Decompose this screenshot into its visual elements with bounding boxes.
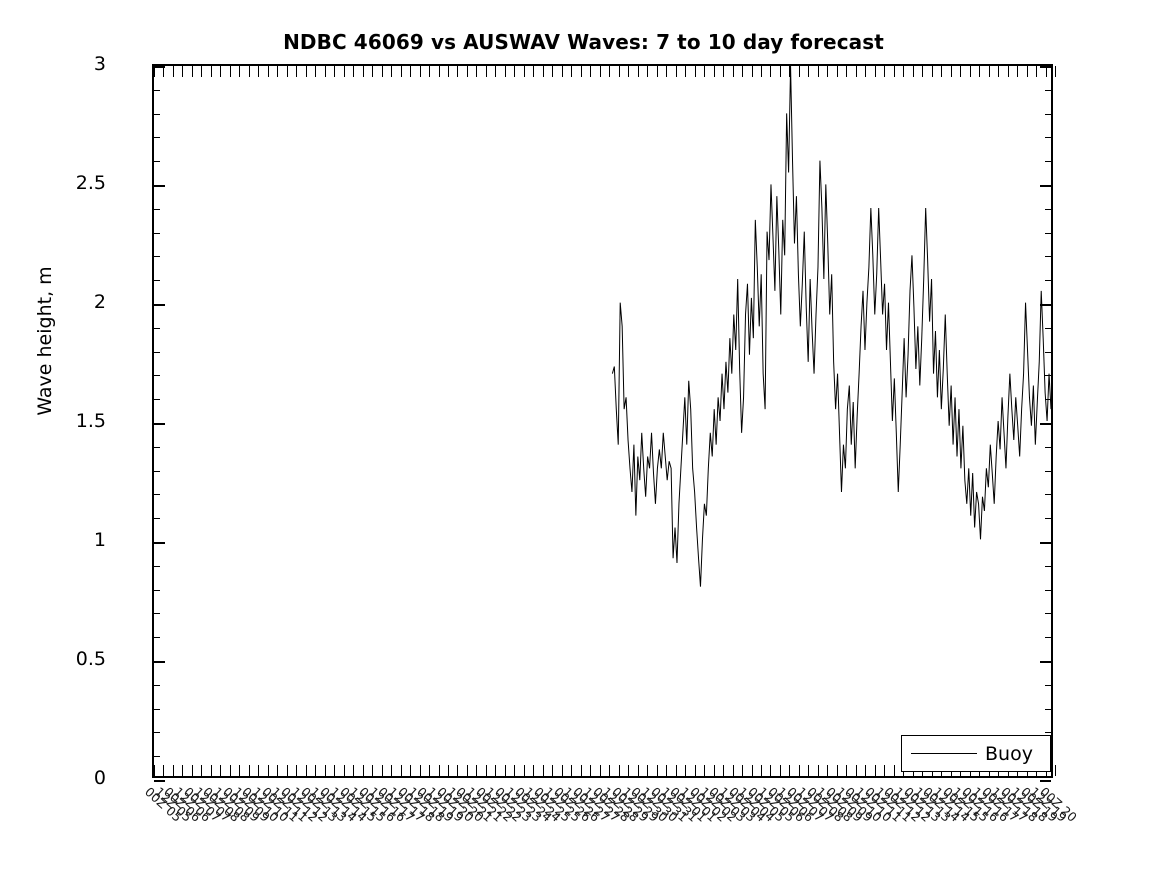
x-axis-tick [192, 765, 193, 776]
x-axis-tick-label: 00Z 09 [823, 784, 866, 825]
x-axis-tick [590, 66, 591, 77]
x-axis-tick [353, 765, 354, 776]
y-axis-minor-tick [154, 637, 160, 638]
x-axis-tick [163, 66, 164, 77]
x-axis-tick [789, 66, 790, 77]
x-axis-tick [524, 66, 525, 77]
x-axis-tick-label: 12Z 10 [249, 784, 292, 825]
y-axis-minor-tick [154, 233, 160, 234]
x-axis-tick [552, 66, 553, 77]
y-axis-minor-tick [1045, 685, 1051, 686]
x-axis-tick [495, 765, 496, 776]
x-axis-tick [173, 765, 174, 776]
x-axis-tick-label: 12Z 13 [910, 784, 953, 825]
x-axis-tick-label-group: 00Z 0512Z 0500Z 0612Z 0600Z 0712Z 0700Z … [152, 778, 1053, 875]
x-axis-tick [486, 66, 487, 77]
y-axis-minor-tick [1045, 280, 1051, 281]
y-axis-minor-tick [154, 280, 160, 281]
y-axis-minor-tick [154, 732, 160, 733]
y-axis-tick-label: 0.5 [16, 648, 106, 670]
x-axis-tick [382, 765, 383, 776]
page-title: NDBC 46069 vs AUSWAV Waves: 7 to 10 day … [0, 30, 1167, 54]
x-axis-tick [334, 66, 335, 77]
x-axis-tick [457, 765, 458, 776]
x-axis-tick [230, 765, 231, 776]
x-axis-tick [704, 66, 705, 77]
x-axis-tick [372, 765, 373, 776]
x-axis-tick [789, 765, 790, 776]
x-axis-tick [325, 765, 326, 776]
x-axis-tick-label: 12Z 31 [658, 784, 701, 825]
y-axis-tick-label: 3 [16, 53, 106, 75]
x-axis-tick [761, 66, 762, 77]
x-axis-tick-label: 12Z 06 [171, 784, 214, 825]
x-axis-tick [201, 765, 202, 776]
x-axis-tick [514, 66, 515, 77]
x-axis-tick [315, 66, 316, 77]
x-axis-tick-label: 00Z 01 [667, 784, 710, 825]
x-axis-tick [913, 66, 914, 77]
x-axis-tick [495, 66, 496, 77]
x-axis-tick [723, 66, 724, 77]
x-axis-tick-label: 00Z 19 [414, 784, 457, 825]
y-axis-minor-tick [154, 209, 160, 210]
x-axis-tick [429, 765, 430, 776]
y-axis-tick-label: 0 [16, 767, 106, 789]
x-axis-tick [856, 66, 857, 77]
x-axis-tick-label: 00Z 12 [881, 784, 924, 825]
x-axis-tick [382, 66, 383, 77]
y-axis-tick [154, 661, 165, 663]
x-axis-tick [401, 66, 402, 77]
x-axis-tick-label: 00Z 06 [161, 784, 204, 825]
y-axis-minor-tick [1045, 256, 1051, 257]
x-axis-tick-label: 12Z 14 [930, 784, 973, 825]
x-axis-tick [325, 66, 326, 77]
y-axis-minor-tick [154, 161, 160, 162]
x-axis-tick-label: 12Z 23 [502, 784, 545, 825]
x-axis-tick [761, 765, 762, 776]
x-axis-tick [154, 66, 155, 77]
y-axis-minor-tick [154, 256, 160, 257]
x-axis-tick-label: 00Z 20 [1037, 784, 1080, 825]
x-axis-tick [799, 765, 800, 776]
y-axis-minor-tick [1045, 637, 1051, 638]
y-axis-minor-tick [154, 542, 160, 543]
x-axis-tick-label: 00Z 11 [259, 784, 302, 825]
x-axis-tick-label: 00Z 13 [298, 784, 341, 825]
x-axis-tick-label: 12Z 07 [191, 784, 234, 825]
x-axis-tick-label: 12Z 16 [969, 784, 1012, 825]
y-axis-minor-tick [1045, 447, 1051, 448]
y-axis-minor-tick [1045, 114, 1051, 115]
x-axis-tick [647, 765, 648, 776]
y-axis-minor-tick [154, 375, 160, 376]
x-axis-tick-label: 00Z 25 [531, 784, 574, 825]
y-axis-tick [154, 780, 165, 782]
x-axis-tick-label: 00Z 13 [901, 784, 944, 825]
x-axis-tick [808, 66, 809, 77]
x-axis-tick [543, 765, 544, 776]
x-axis-tick-label: 00Z 03 [706, 784, 749, 825]
x-axis-tick-label: 12Z 28 [599, 784, 642, 825]
y-axis-minor-tick [1045, 566, 1051, 567]
x-axis-tick [391, 66, 392, 77]
x-axis-tick [638, 66, 639, 77]
x-axis-tick-label: 00Z 18 [395, 784, 438, 825]
x-axis-tick [562, 66, 563, 77]
x-axis-tick [420, 66, 421, 77]
x-axis-tick [657, 765, 658, 776]
x-axis-tick-label: 00Z 30 [628, 784, 671, 825]
y-axis-minor-tick [154, 352, 160, 353]
x-axis-tick [818, 66, 819, 77]
x-axis-tick-label: 00Z 19 [1017, 784, 1060, 825]
x-axis-tick [609, 765, 610, 776]
x-axis-tick [505, 66, 506, 77]
x-axis-tick [960, 66, 961, 77]
x-axis-tick-label: 00Z 26 [551, 784, 594, 825]
x-axis-tick [448, 66, 449, 77]
x-axis-tick [609, 66, 610, 77]
x-axis-tick [600, 66, 601, 77]
x-axis-tick [846, 765, 847, 776]
x-axis-tick [182, 66, 183, 77]
y-axis-tick [1040, 661, 1051, 663]
x-axis-tick [628, 66, 629, 77]
x-axis-tick-label: 12Z 27 [580, 784, 623, 825]
x-axis-tick [344, 66, 345, 77]
x-axis-tick [239, 765, 240, 776]
x-axis-tick-label: 12Z 05 [755, 784, 798, 825]
x-axis-tick [1008, 66, 1009, 77]
x-axis-tick-label: 00Z 06 [765, 784, 808, 825]
x-axis-tick [420, 765, 421, 776]
x-axis-tick-label: 00Z 29 [609, 784, 652, 825]
x-axis-tick [277, 66, 278, 77]
x-axis-tick [239, 66, 240, 77]
x-axis-tick-label: 12Z 11 [268, 784, 311, 825]
x-axis-tick-label: 12Z 24 [521, 784, 564, 825]
x-axis-tick-label: 00Z 12 [278, 784, 321, 825]
x-axis-tick-label: 00Z 15 [940, 784, 983, 825]
x-axis-tick-label: 12Z 08 [813, 784, 856, 825]
x-axis-tick [856, 765, 857, 776]
y-axis-minor-tick [154, 447, 160, 448]
x-axis-tick-label: 12Z 30 [638, 784, 681, 825]
y-axis-minor-tick [154, 590, 160, 591]
x-axis-tick [799, 66, 800, 77]
x-axis-tick [1055, 765, 1056, 776]
x-axis-tick [533, 765, 534, 776]
x-axis-tick-label: 00Z 21 [453, 784, 496, 825]
x-axis-tick-label: 00Z 17 [375, 784, 418, 825]
y-axis-minor-tick [154, 328, 160, 329]
x-axis-tick [619, 66, 620, 77]
y-axis-minor-tick [1045, 590, 1051, 591]
x-axis-tick [353, 66, 354, 77]
y-axis-minor-tick [154, 137, 160, 138]
x-axis-tick [780, 765, 781, 776]
x-axis-tick-label: 00Z 18 [998, 784, 1041, 825]
x-axis-tick-label: 12Z 18 [1008, 784, 1051, 825]
x-axis-tick-label: 12Z 19 [1027, 784, 1070, 825]
x-axis-tick-label: 12Z 12 [288, 784, 331, 825]
x-axis-tick [439, 765, 440, 776]
x-axis-tick [505, 765, 506, 776]
y-axis-minor-tick [1045, 399, 1051, 400]
x-axis-tick [884, 66, 885, 77]
x-axis-tick [334, 765, 335, 776]
x-axis-tick [714, 66, 715, 77]
x-axis-tick [467, 66, 468, 77]
y-axis-minor-tick [1045, 233, 1051, 234]
x-axis-tick [1046, 66, 1047, 77]
x-axis-tick [514, 765, 515, 776]
x-axis-tick-label: 12Z 13 [307, 784, 350, 825]
x-axis-tick [230, 66, 231, 77]
x-axis-tick [410, 66, 411, 77]
x-axis-tick-label: 00Z 20 [434, 784, 477, 825]
x-axis-tick [372, 66, 373, 77]
x-axis-tick [315, 765, 316, 776]
x-axis-tick-label: 00Z 02 [687, 784, 730, 825]
x-axis-tick [752, 66, 753, 77]
y-axis-minor-tick [154, 756, 160, 757]
x-axis-tick [894, 765, 895, 776]
x-axis-tick [989, 66, 990, 77]
x-axis-tick [581, 765, 582, 776]
x-axis-tick [154, 765, 155, 776]
y-axis-tick [154, 185, 165, 187]
x-axis-tick [884, 765, 885, 776]
x-axis-tick [742, 765, 743, 776]
x-axis-tick-label: 00Z 28 [589, 784, 632, 825]
x-axis-tick-label: 00Z 07 [181, 784, 224, 825]
x-axis-tick [467, 765, 468, 776]
x-axis-tick-label: 00Z 05 [745, 784, 788, 825]
x-axis-tick-label: 12Z 20 [444, 784, 487, 825]
x-axis-tick [770, 66, 771, 77]
x-axis-tick-label: 12Z 15 [346, 784, 389, 825]
x-axis-tick-label: 00Z 05 [142, 784, 185, 825]
x-axis-tick [590, 765, 591, 776]
x-axis-tick [486, 765, 487, 776]
x-axis-tick-label: 12Z 17 [385, 784, 428, 825]
x-axis-tick [1036, 66, 1037, 77]
y-axis-minor-tick [1045, 161, 1051, 162]
x-axis-tick-label: 00Z 08 [200, 784, 243, 825]
y-axis-minor-tick [1045, 352, 1051, 353]
x-axis-tick-label: 12Z 26 [560, 784, 603, 825]
x-axis-tick [220, 765, 221, 776]
x-axis-tick-label: 12Z 09 [833, 784, 876, 825]
x-axis-tick [647, 66, 648, 77]
x-axis-tick [837, 66, 838, 77]
x-axis-tick [733, 66, 734, 77]
x-axis-tick-label: 12Z 18 [405, 784, 448, 825]
x-axis-tick [258, 765, 259, 776]
legend: Buoy [901, 735, 1051, 772]
y-axis-minor-tick [1045, 137, 1051, 138]
x-axis-tick-label: 12Z 09 [230, 784, 273, 825]
x-axis-tick [695, 66, 696, 77]
x-axis-tick [571, 66, 572, 77]
x-axis-tick [865, 66, 866, 77]
y-axis-minor-tick [1045, 375, 1051, 376]
x-axis-tick [733, 765, 734, 776]
x-axis-tick [306, 66, 307, 77]
x-axis-tick [818, 765, 819, 776]
x-axis-tick [714, 765, 715, 776]
x-axis-tick-label: 12Z 29 [619, 784, 662, 825]
x-axis-tick [875, 765, 876, 776]
x-axis-tick-label: 00Z 14 [920, 784, 963, 825]
y-axis-minor-tick [1045, 209, 1051, 210]
y-axis-minor-tick [1045, 328, 1051, 329]
x-axis-tick [296, 66, 297, 77]
y-axis-minor-tick [1045, 90, 1051, 91]
x-axis-tick [533, 66, 534, 77]
x-axis-tick [600, 765, 601, 776]
x-axis-tick [439, 66, 440, 77]
x-axis-tick [685, 66, 686, 77]
x-axis-tick [894, 66, 895, 77]
chart-page: NDBC 46069 vs AUSWAV Waves: 7 to 10 day … [0, 0, 1167, 875]
x-axis-tick [808, 765, 809, 776]
y-axis-minor-tick [154, 114, 160, 115]
x-axis-tick-label: 12Z 17 [988, 784, 1031, 825]
x-axis-tick [695, 765, 696, 776]
y-axis-tick [154, 304, 165, 306]
y-axis-tick-label: 2.5 [16, 172, 106, 194]
x-axis-tick-label: 00Z 15 [337, 784, 380, 825]
x-axis-tick [657, 66, 658, 77]
x-axis-tick [979, 66, 980, 77]
x-axis-tick-label: 12Z 21 [463, 784, 506, 825]
x-axis-tick [1055, 66, 1056, 77]
x-axis-tick-label: 00Z 27 [570, 784, 613, 825]
y-axis-tick-label: 2 [16, 291, 106, 313]
x-axis-tick [211, 66, 212, 77]
x-axis-tick-label: 00Z 09 [220, 784, 263, 825]
x-axis-tick [581, 66, 582, 77]
x-axis-tick [296, 765, 297, 776]
x-axis-tick-label: 00Z 16 [356, 784, 399, 825]
x-axis-tick-label: 00Z 07 [784, 784, 827, 825]
x-axis-tick [476, 765, 477, 776]
y-axis-minor-tick [154, 518, 160, 519]
x-axis-tick-label: 00Z 10 [842, 784, 885, 825]
y-axis-minor-tick [1045, 542, 1051, 543]
y-axis-minor-tick [1045, 518, 1051, 519]
y-axis-tick-label: 1 [16, 529, 106, 551]
x-axis-tick-label: 00Z 17 [979, 784, 1022, 825]
x-axis-tick [865, 765, 866, 776]
x-axis-tick-label: 12Z 14 [327, 784, 370, 825]
x-axis-tick [277, 765, 278, 776]
y-axis-tick [1040, 423, 1051, 425]
x-axis-tick-label: 12Z 04 [735, 784, 778, 825]
x-axis-tick [922, 66, 923, 77]
x-axis-tick [827, 66, 828, 77]
x-axis-tick-label: 00Z 23 [492, 784, 535, 825]
y-axis-minor-tick [154, 494, 160, 495]
plot-area: Buoy [152, 64, 1053, 778]
x-axis-tick [344, 765, 345, 776]
x-axis-tick [249, 66, 250, 77]
x-axis-tick [1017, 66, 1018, 77]
x-axis-tick-label: 12Z 11 [872, 784, 915, 825]
x-axis-tick-label: 12Z 22 [482, 784, 525, 825]
x-axis-tick-label: 12Z 01 [677, 784, 720, 825]
x-axis-tick [846, 66, 847, 77]
x-axis-tick [666, 66, 667, 77]
x-axis-tick-label: 12Z 15 [949, 784, 992, 825]
x-axis-tick [363, 66, 364, 77]
x-axis-tick-label: 00Z 24 [512, 784, 555, 825]
x-axis-tick [249, 765, 250, 776]
y-axis-tick [1040, 304, 1051, 306]
x-axis-tick [951, 66, 952, 77]
x-axis-tick [628, 765, 629, 776]
x-axis-tick [173, 66, 174, 77]
x-axis-tick [268, 66, 269, 77]
y-axis-minor-tick [1045, 613, 1051, 614]
x-axis-tick-label: 00Z 10 [239, 784, 282, 825]
legend-label-buoy: Buoy [985, 743, 1033, 765]
x-axis-tick [903, 66, 904, 77]
x-axis-tick-label: 00Z 31 [648, 784, 691, 825]
x-axis-tick [429, 66, 430, 77]
x-axis-tick-label: 12Z 12 [891, 784, 934, 825]
y-axis-tick [1040, 185, 1051, 187]
x-axis-tick [875, 66, 876, 77]
y-axis-tick-label: 1.5 [16, 410, 106, 432]
y-axis-minor-tick [1045, 732, 1051, 733]
x-axis-tick [524, 765, 525, 776]
x-axis-tick [192, 66, 193, 77]
x-axis-tick [363, 765, 364, 776]
y-axis-minor-tick [1045, 471, 1051, 472]
x-axis-tick-label: 12Z 02 [696, 784, 739, 825]
legend-line-buoy [911, 753, 977, 754]
x-axis-tick [201, 66, 202, 77]
x-axis-tick [268, 765, 269, 776]
y-axis-label: Wave height, m [34, 21, 56, 661]
x-axis-tick [220, 66, 221, 77]
x-axis-tick [770, 765, 771, 776]
x-axis-tick [837, 765, 838, 776]
x-axis-tick-label: 00Z 08 [803, 784, 846, 825]
x-axis-tick-label: 12Z 16 [366, 784, 409, 825]
x-axis-tick-label: 00Z 16 [959, 784, 1002, 825]
x-axis-tick [258, 66, 259, 77]
x-axis-tick-label: 12Z 08 [210, 784, 253, 825]
x-axis-tick-label: 00Z 22 [473, 784, 516, 825]
x-axis-tick [685, 765, 686, 776]
x-axis-tick [543, 66, 544, 77]
x-axis-tick [723, 765, 724, 776]
x-axis-tick [571, 765, 572, 776]
x-axis-tick [163, 765, 164, 776]
x-axis-tick [742, 66, 743, 77]
x-axis-tick [970, 66, 971, 77]
x-axis-tick [752, 765, 753, 776]
x-axis-tick [476, 66, 477, 77]
x-axis-tick [827, 765, 828, 776]
x-axis-tick [638, 765, 639, 776]
